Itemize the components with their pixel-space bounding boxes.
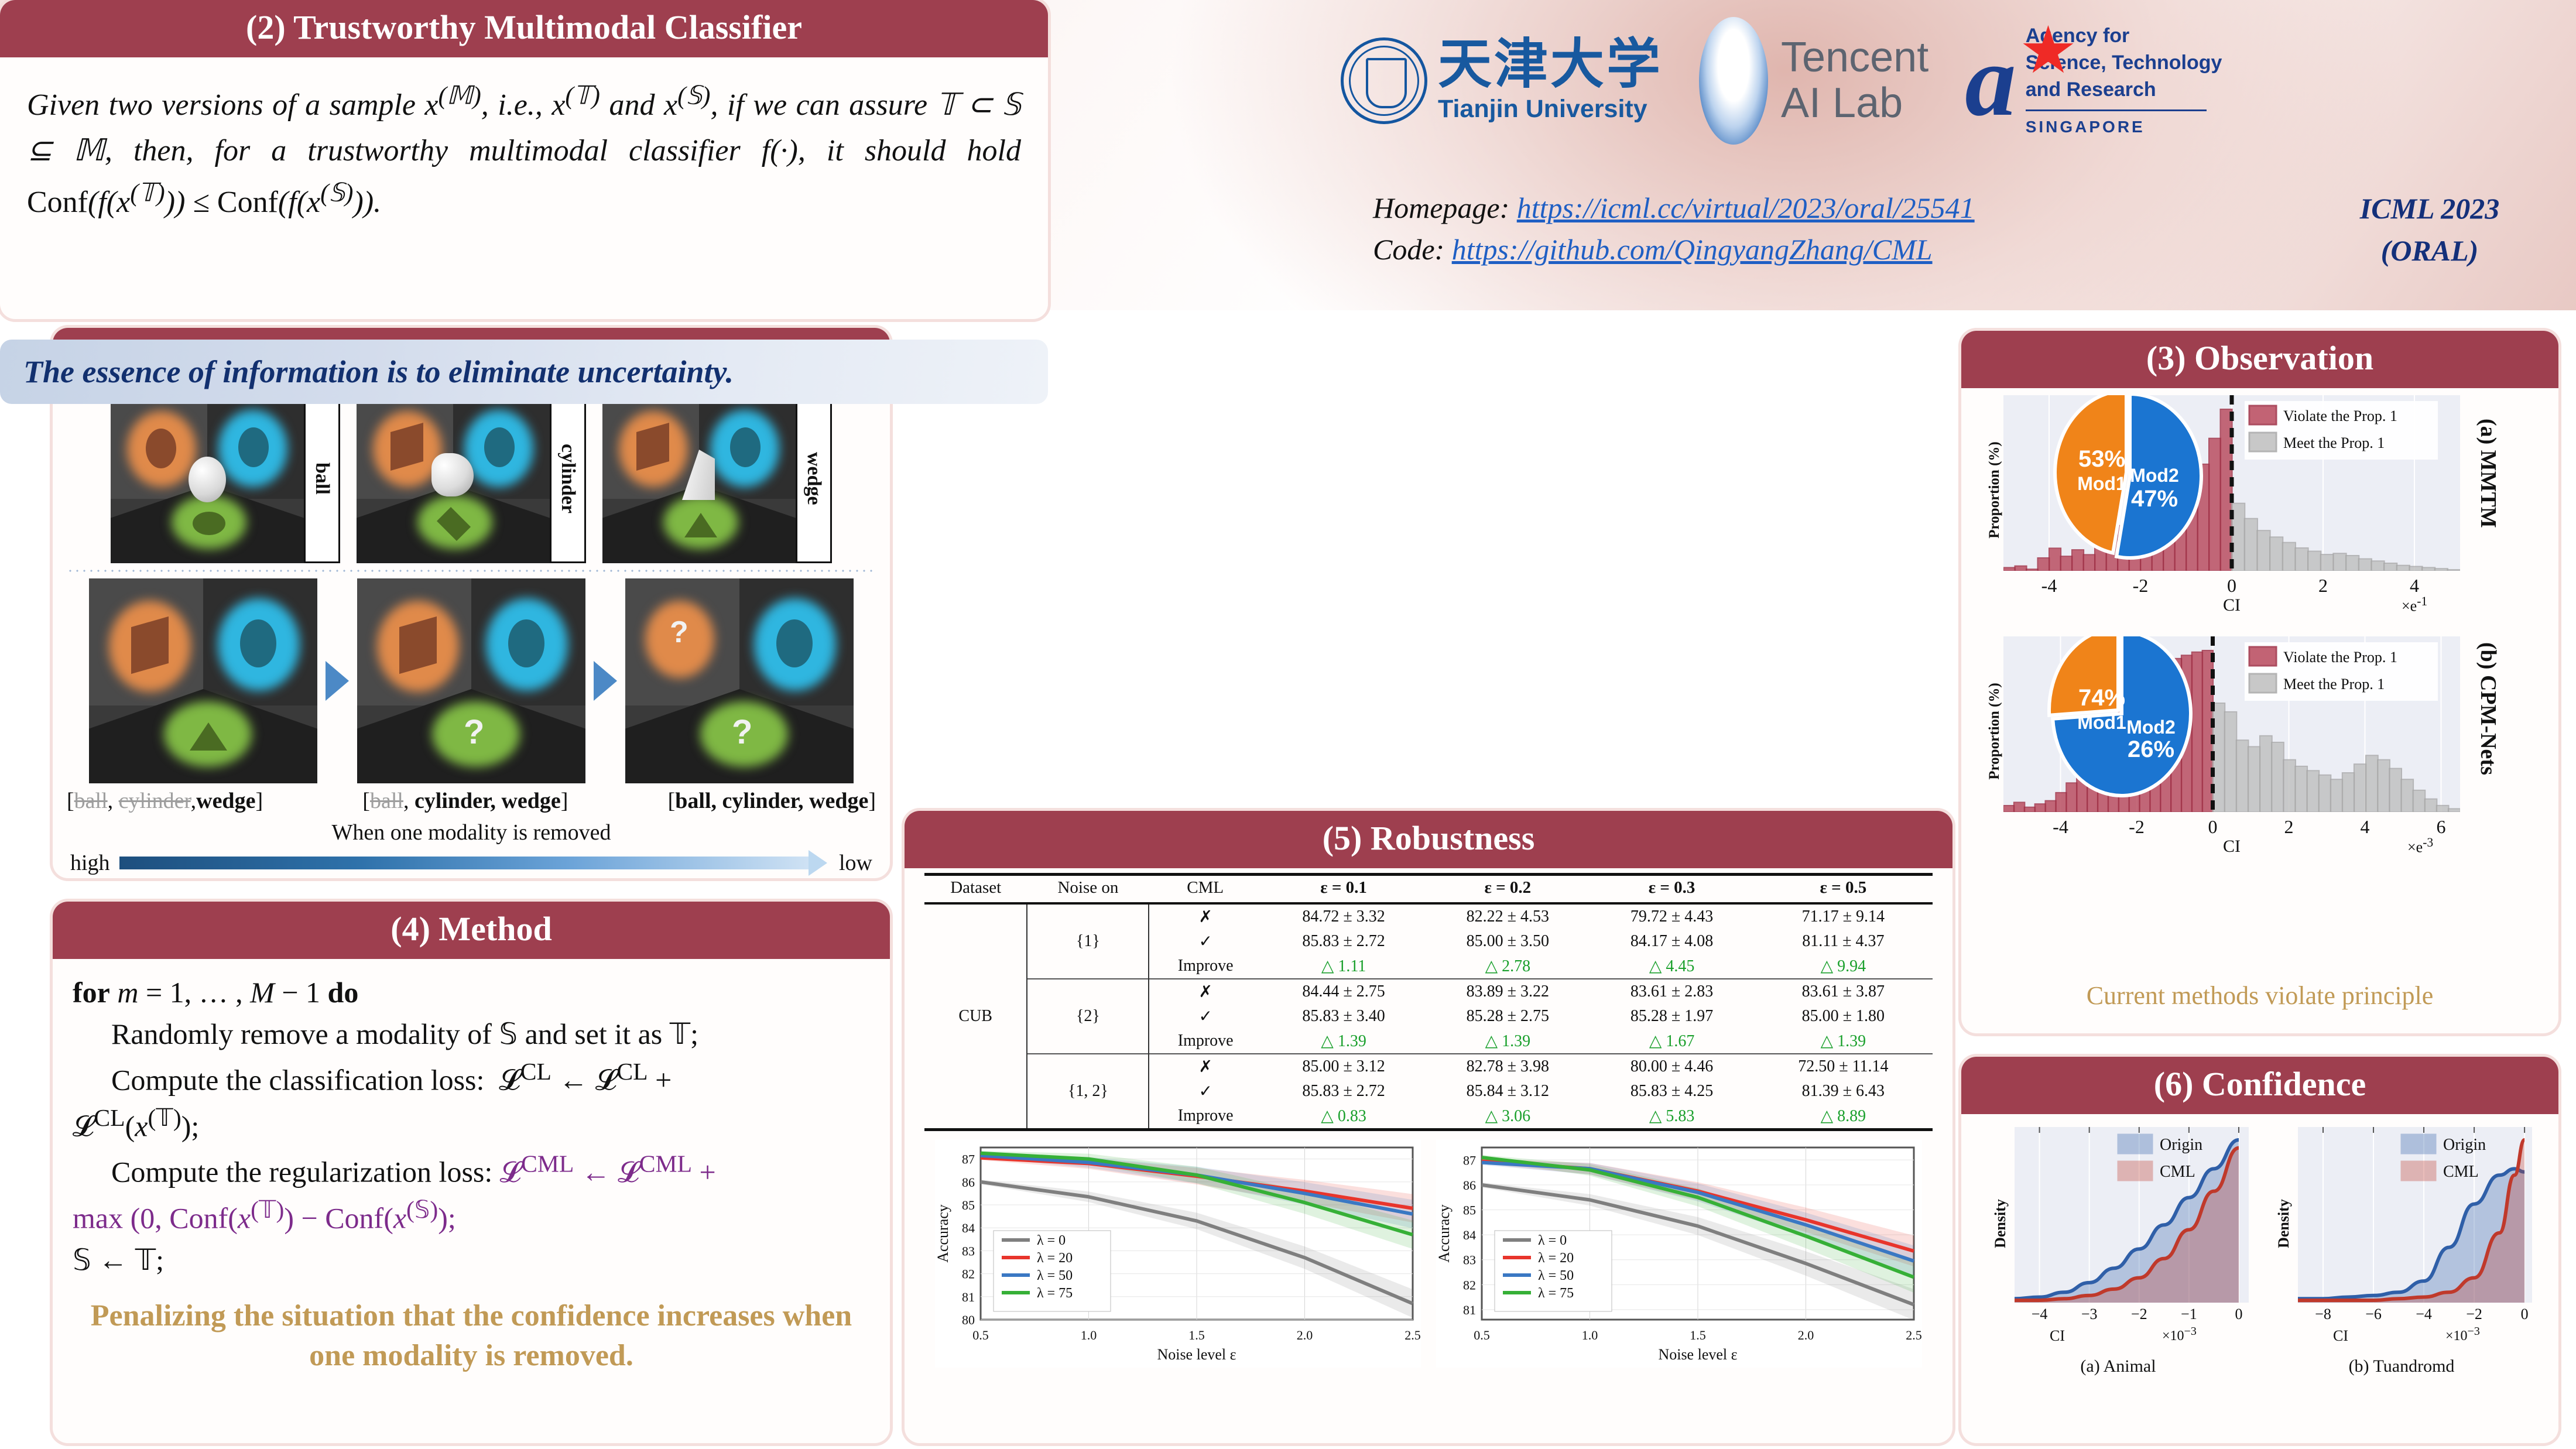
cell-improve: △ 1.67 [1590, 1029, 1753, 1054]
cell-value: 81.11 ± 4.37 [1754, 929, 1933, 954]
hist-b-ylabel: Proportion (%) [1986, 658, 2003, 804]
svg-text:-4: -4 [2053, 816, 2068, 837]
essence-quote-banner: The essence of information is to elimina… [0, 340, 1048, 404]
cell-value: 85.83 ± 3.40 [1262, 1004, 1426, 1029]
svg-text:λ = 75: λ = 75 [1538, 1286, 1574, 1301]
when-removed-label: When one modality is removed [63, 820, 879, 845]
svg-text:85: 85 [1463, 1203, 1476, 1218]
cell-value: 79.72 ± 4.43 [1590, 903, 1753, 929]
svg-text:Mod2: Mod2 [2126, 717, 2176, 738]
svg-text:1.5: 1.5 [1188, 1328, 1205, 1342]
confidence-high-label: high [70, 850, 110, 876]
cell-value: 83.61 ± 3.87 [1754, 979, 1933, 1004]
scene-card-cylinder: cylinder [357, 393, 586, 563]
svg-text:-4: -4 [2041, 575, 2057, 596]
cell-value: 83.61 ± 2.83 [1590, 979, 1753, 1004]
svg-text:λ = 20: λ = 20 [1037, 1251, 1073, 1266]
svg-text:CML: CML [2160, 1163, 2195, 1181]
panel-motivation-body: ball cylinder [53, 385, 890, 878]
method-takeaway: Penalizing the situation that the confid… [73, 1296, 870, 1376]
hist-a-xlabel: CI [2003, 595, 2460, 615]
chart-hist-cpmnets-wrap: Proportion (%) 74%Mod1Mod226%Violate the… [1967, 636, 2553, 847]
svg-text:86: 86 [1463, 1178, 1476, 1193]
svg-text:0.5: 0.5 [972, 1328, 989, 1342]
scene-row-bottom: ? ? ? [63, 578, 879, 783]
panel-method: (4) Method for m = 1, … , M − 1 do Rando… [53, 902, 890, 1443]
confidence-low-label: low [839, 850, 872, 876]
tencent-line-2: AI Lab [1781, 81, 1928, 126]
panel-robustness-title: (5) Robustness [905, 811, 1952, 868]
cell-cml: Improve [1149, 1029, 1262, 1054]
svg-text:−3: −3 [2081, 1306, 2098, 1323]
chart-robustness-right: 0.51.01.52.02.581828384858687Noise level… [1436, 1139, 1922, 1368]
density-b-xlabel: CI [2333, 1327, 2348, 1345]
code-label: Code: [1373, 233, 1444, 266]
svg-text:0.5: 0.5 [1474, 1328, 1490, 1342]
cell-cml: ✓ [1149, 929, 1262, 954]
tencent-mark-icon [1699, 17, 1768, 145]
arrow-right-icon [326, 661, 349, 701]
cell-improve: △ 8.89 [1754, 1104, 1933, 1130]
svg-text:Noise level ε: Noise level ε [1658, 1346, 1737, 1363]
density-a-xlabel: CI [2050, 1327, 2065, 1345]
algo-for-line: for m = 1, … , M − 1 do [73, 972, 870, 1013]
cell-value: 85.83 ± 4.25 [1590, 1079, 1753, 1104]
svg-text:Accuracy: Accuracy [935, 1204, 951, 1263]
chart-hist-mmtm-wrap: Proportion (%) 53%Mod1Mod247%Violate the… [1967, 395, 2553, 606]
code-row: Code: https://github.com/QingyangZhang/C… [1373, 229, 1975, 270]
scene-caption-2: [ball, cylinder, wedge] [362, 788, 568, 814]
confidence-charts: Density OriginCML −4−3−2−10 CI ×10−3 (a)… [1971, 1127, 2549, 1379]
chart-robustness-left: 0.51.01.52.02.58081828384858687Noise lev… [935, 1139, 1421, 1368]
scene-remove-two: ? ? [625, 578, 854, 783]
svg-text:Meet the Prop. 1: Meet the Prop. 1 [2283, 676, 2385, 693]
scene-tag-wedge: wedge [796, 393, 832, 563]
svg-text:6: 6 [2437, 816, 2446, 837]
density-tuandromd: OriginCML [2298, 1127, 2532, 1303]
density-a-caption: (a) Animal [1986, 1356, 2250, 1376]
svg-text:2.0: 2.0 [1297, 1328, 1313, 1342]
algo-step-2: Compute the classification loss: 𝓛CL ← 𝓛… [73, 1055, 870, 1101]
cell-improve: △ 1.39 [1426, 1029, 1590, 1054]
tju-seal-icon [1341, 37, 1427, 124]
panel-motivation: (1) Motivation ball [53, 328, 890, 878]
col-eps-05: ε = 0.5 [1754, 875, 1933, 904]
panel-trustworthy-title: (2) Trustworthy Multimodal Classifier [0, 0, 1048, 57]
hist-b-xlabel: CI [2003, 837, 2460, 857]
svg-text:−2: −2 [2131, 1306, 2147, 1323]
logo-strip: 天津大学 Tianjin University Tencent AI Lab a… [1341, 15, 2222, 146]
cell-value: 85.83 ± 2.72 [1262, 1079, 1426, 1104]
svg-text:74%: 74% [2078, 685, 2125, 711]
svg-text:83: 83 [962, 1244, 975, 1258]
svg-text:81: 81 [1463, 1303, 1476, 1317]
homepage-row: Homepage: https://icml.cc/virtual/2023/o… [1373, 187, 1975, 229]
question-mark-icon: ? [732, 712, 752, 752]
algo-step-1: Randomly remove a modality of 𝕊 and set … [73, 1013, 870, 1055]
code-link[interactable]: https://github.com/QingyangZhang/CML [1452, 233, 1933, 266]
svg-text:Mod1: Mod1 [2077, 473, 2126, 494]
star-icon: ★ [2019, 18, 2077, 84]
hist-mmtm: 53%Mod1Mod247%Violate the Prop. 1Meet th… [2003, 395, 2460, 571]
scene-captions: [ball, cylinder,wedge] [ball, cylinder, … [63, 783, 879, 814]
cell-improve: △ 1.11 [1262, 954, 1426, 979]
cell-improve: △ 0.83 [1262, 1104, 1426, 1130]
homepage-link[interactable]: https://icml.cc/virtual/2023/oral/25541 [1517, 191, 1975, 224]
svg-text:4: 4 [2361, 816, 2370, 837]
cell-improve: △ 2.78 [1426, 954, 1590, 979]
svg-text:λ = 0: λ = 0 [1037, 1233, 1066, 1248]
tencent-ai-lab-logo: Tencent AI Lab [1699, 17, 1928, 145]
svg-text:82: 82 [1463, 1277, 1476, 1292]
svg-text:Violate the Prop. 1: Violate the Prop. 1 [2283, 407, 2397, 424]
algo-step-3: Compute the regularization loss: 𝓛CML ← … [73, 1147, 870, 1193]
svg-text:81: 81 [962, 1290, 975, 1304]
arrow-right-icon [594, 661, 617, 701]
cell-noise-on: {1} [1027, 903, 1149, 979]
tju-english-name: Tianjin University [1438, 95, 1663, 124]
divider [67, 569, 876, 573]
venue-line-2: (ORAL) [2307, 229, 2553, 272]
svg-text:0: 0 [2235, 1306, 2242, 1323]
svg-text:λ = 75: λ = 75 [1037, 1286, 1073, 1301]
panel-observation-body: Proportion (%) 53%Mod1Mod247%Violate the… [1961, 388, 2558, 854]
observation-note: Current methods violate principle [1961, 981, 2558, 1010]
cell-improve: △ 9.94 [1754, 954, 1933, 979]
cell-value: 83.89 ± 3.22 [1426, 979, 1590, 1004]
col-eps-01: ε = 0.1 [1262, 875, 1426, 904]
cell-value: 84.72 ± 3.32 [1262, 903, 1426, 929]
cell-value: 71.17 ± 9.14 [1754, 903, 1933, 929]
cell-value: 85.83 ± 2.72 [1262, 929, 1426, 954]
cell-improve: △ 4.45 [1590, 954, 1753, 979]
link-block: Homepage: https://icml.cc/virtual/2023/o… [1373, 187, 1975, 270]
svg-text:47%: 47% [2131, 486, 2178, 512]
robustness-table: Dataset Noise on CML ε = 0.1 ε = 0.2 ε =… [924, 873, 1933, 1131]
svg-text:Violate the Prop. 1: Violate the Prop. 1 [2283, 649, 2397, 666]
confidence-scale: high low [63, 850, 879, 876]
cell-noise-on: {2} [1027, 979, 1149, 1054]
cell-value: 85.00 ± 1.80 [1754, 1004, 1933, 1029]
tianjin-university-logo: 天津大学 Tianjin University [1341, 37, 1663, 124]
cell-improve: △ 3.06 [1426, 1104, 1590, 1130]
scene-card-ball: ball [111, 393, 340, 563]
svg-text:0: 0 [2208, 816, 2218, 837]
svg-text:2.0: 2.0 [1798, 1328, 1814, 1342]
svg-text:Mod2: Mod2 [2130, 465, 2179, 486]
svg-text:87: 87 [1463, 1153, 1476, 1167]
cell-value: 85.00 ± 3.12 [1262, 1054, 1426, 1079]
svg-text:−6: −6 [2365, 1306, 2382, 1323]
scene-cylinder [357, 393, 550, 563]
astar-singapore: SINGAPORE [2026, 116, 2222, 138]
cell-cml: ✗ [1149, 979, 1262, 1004]
svg-text:1.5: 1.5 [1690, 1328, 1706, 1342]
cell-value: 81.39 ± 6.43 [1754, 1079, 1933, 1104]
table-row: CUB {1} ✗ 84.72 ± 3.32 82.22 ± 4.53 79.7… [924, 903, 1933, 929]
cell-noise-on: {1, 2} [1027, 1054, 1149, 1130]
chart-density-animal-wrap: Density OriginCML −4−3−2−10 CI ×10−3 (a)… [1986, 1127, 2250, 1379]
scene-caption-1: [ball, cylinder,wedge] [67, 788, 263, 814]
cell-improve: △ 1.39 [1754, 1029, 1933, 1054]
venue-line-1: ICML 2023 [2307, 187, 2553, 229]
svg-text:Mod1: Mod1 [2077, 712, 2126, 733]
svg-text:2: 2 [2318, 575, 2328, 596]
density-b-caption: (b) Tuandromd [2270, 1356, 2533, 1376]
panel-trustworthy-classifier: (2) Trustworthy Multimodal Classifier Gi… [0, 0, 1048, 439]
cell-value: 82.22 ± 4.53 [1426, 903, 1590, 929]
svg-text:λ = 50: λ = 50 [1538, 1268, 1574, 1283]
cell-improve: △ 5.83 [1590, 1104, 1753, 1130]
svg-text:−4: −4 [2416, 1306, 2432, 1323]
panel-method-body: for m = 1, … , M − 1 do Randomly remove … [53, 959, 890, 1376]
svg-text:2.5: 2.5 [1906, 1328, 1922, 1342]
panel-observation: (3) Observation Proportion (%) 53%Mod1Mo… [1961, 331, 2558, 1033]
panel-confidence-title: (6) Confidence [1961, 1057, 2558, 1114]
cell-cml: ✓ [1149, 1004, 1262, 1029]
scene-ball [111, 393, 304, 563]
panel-robustness: (5) Robustness Dataset Noise on CML ε = … [905, 811, 1952, 1443]
svg-text:CML: CML [2443, 1163, 2479, 1181]
svg-text:86: 86 [962, 1175, 975, 1190]
panel-robustness-body: Dataset Noise on CML ε = 0.1 ε = 0.2 ε =… [905, 868, 1952, 1372]
robustness-charts: 0.51.01.52.02.58081828384858687Noise lev… [924, 1139, 1933, 1368]
svg-text:84: 84 [962, 1221, 975, 1235]
cell-value: 82.78 ± 3.98 [1426, 1054, 1590, 1079]
svg-text:83: 83 [1463, 1253, 1476, 1268]
svg-text:-2: -2 [2129, 816, 2145, 837]
cell-value: 80.00 ± 4.46 [1590, 1054, 1753, 1079]
svg-text:0: 0 [2227, 575, 2236, 596]
cell-dataset: CUB [924, 903, 1027, 1130]
density-b-ylabel: Density [2275, 1165, 2293, 1282]
svg-text:-2: -2 [2133, 575, 2149, 596]
cell-value: 85.28 ± 2.75 [1426, 1004, 1590, 1029]
density-animal: OriginCML [2015, 1127, 2249, 1303]
homepage-label: Homepage: [1373, 191, 1509, 224]
cell-value: 85.00 ± 3.50 [1426, 929, 1590, 954]
svg-text:82: 82 [962, 1267, 975, 1282]
svg-text:4: 4 [2410, 575, 2419, 596]
algo-step-4: 𝕊 ← 𝕋; [73, 1239, 870, 1281]
svg-text:26%: 26% [2128, 737, 2174, 762]
question-mark-icon: ? [670, 615, 688, 650]
panel-confidence: (6) Confidence Density OriginCML −4−3−2−… [1961, 1057, 2558, 1443]
scene-tag-cylinder: cylinder [550, 393, 586, 563]
svg-text:−8: −8 [2315, 1306, 2331, 1323]
svg-text:Origin: Origin [2443, 1136, 2486, 1154]
density-a-ylabel: Density [1992, 1165, 2009, 1282]
table-row: {1, 2} ✗ 85.00 ± 3.12 82.78 ± 3.98 80.00… [924, 1054, 1933, 1079]
svg-text:84: 84 [1463, 1228, 1476, 1242]
panel-method-title: (4) Method [53, 902, 890, 959]
density-b-scale-note: ×10−3 [2445, 1325, 2480, 1344]
svg-text:53%: 53% [2078, 446, 2125, 472]
algo-step-3-cont: max (0, Conf(x(𝕋)) − Conf(x(𝕊)); [73, 1193, 870, 1239]
col-eps-02: ε = 0.2 [1426, 875, 1590, 904]
scene-tag-ball: ball [304, 393, 340, 563]
essence-quote-text: The essence of information is to elimina… [23, 354, 734, 390]
svg-text:0: 0 [2521, 1306, 2529, 1323]
svg-text:80: 80 [962, 1313, 975, 1327]
svg-text:λ = 20: λ = 20 [1538, 1251, 1574, 1266]
scene-wedge [602, 393, 796, 563]
cell-improve: △ 1.39 [1262, 1029, 1426, 1054]
cell-value: 72.50 ± 11.14 [1754, 1054, 1933, 1079]
svg-text:2.5: 2.5 [1405, 1328, 1421, 1342]
astar-logo: a ★ Agency for Science, Technology and R… [1965, 23, 2222, 138]
hist-b-scale-note: ×e-3 [2407, 835, 2433, 857]
cell-cml: Improve [1149, 954, 1262, 979]
svg-text:87: 87 [962, 1152, 975, 1167]
hist-a-ylabel: Proportion (%) [1986, 417, 2003, 563]
svg-text:Origin: Origin [2160, 1136, 2202, 1154]
question-mark-icon: ? [464, 712, 484, 752]
tju-chinese-name: 天津大学 [1438, 37, 1663, 91]
panel-confidence-body: Density OriginCML −4−3−2−10 CI ×10−3 (a)… [1961, 1114, 2558, 1392]
scene-full [89, 578, 317, 783]
hist-b-subcaption: (b) CPM-Nets [2475, 642, 2501, 775]
scene-remove-one: ? [357, 578, 585, 783]
scene-caption-3: [ball, cylinder, wedge] [668, 788, 876, 814]
svg-text:λ = 0: λ = 0 [1538, 1233, 1567, 1248]
density-a-scale-note: ×10−3 [2162, 1325, 2197, 1344]
svg-text:2: 2 [2284, 816, 2294, 837]
svg-text:Accuracy: Accuracy [1436, 1204, 1453, 1263]
scene-card-wedge: wedge [602, 393, 832, 563]
cell-cml: ✗ [1149, 903, 1262, 929]
hist-a-scale-note: ×e-1 [2402, 594, 2427, 615]
venue-badge: ICML 2023 (ORAL) [2307, 187, 2553, 272]
cell-value: 85.28 ± 1.97 [1590, 1004, 1753, 1029]
col-noise-on: Noise on [1027, 875, 1149, 904]
col-dataset: Dataset [924, 875, 1027, 904]
table-row: {2} ✗ 84.44 ± 2.75 83.89 ± 3.22 83.61 ± … [924, 979, 1933, 1004]
svg-text:−4: −4 [2032, 1306, 2048, 1323]
svg-text:λ = 50: λ = 50 [1037, 1268, 1073, 1283]
algo-step-2-cont: 𝓛CL(x(𝕋)); [73, 1101, 870, 1147]
cell-cml: ✗ [1149, 1054, 1262, 1079]
hist-cpmnets: 74%Mod1Mod226%Violate the Prop. 1Meet th… [2003, 636, 2460, 812]
astar-a-glyph: a [1965, 32, 2016, 129]
svg-text:Noise level ε: Noise level ε [1157, 1346, 1236, 1363]
cell-cml: Improve [1149, 1104, 1262, 1130]
tencent-line-1: Tencent [1781, 35, 1928, 81]
chart-density-tuandromd-wrap: Density OriginCML −8−6−4−20 CI ×10−3 (b)… [2270, 1127, 2533, 1379]
col-eps-03: ε = 0.3 [1590, 875, 1753, 904]
hist-a-subcaption: (a) MMTM [2475, 419, 2501, 528]
svg-text:1.0: 1.0 [1081, 1328, 1097, 1342]
svg-text:−2: −2 [2466, 1306, 2482, 1323]
table-header-row: Dataset Noise on CML ε = 0.1 ε = 0.2 ε =… [924, 875, 1933, 904]
svg-text:−1: −1 [2181, 1306, 2197, 1323]
cell-value: 84.17 ± 4.08 [1590, 929, 1753, 954]
svg-text:1.0: 1.0 [1582, 1328, 1598, 1342]
cell-value: 84.44 ± 2.75 [1262, 979, 1426, 1004]
cell-value: 85.84 ± 3.12 [1426, 1079, 1590, 1104]
divider [2026, 109, 2207, 111]
scene-row-top: ball cylinder [63, 393, 879, 563]
confidence-gradient-bar [119, 857, 810, 869]
col-cml: CML [1149, 875, 1262, 904]
cell-cml: ✓ [1149, 1079, 1262, 1104]
panel-observation-title: (3) Observation [1961, 331, 2558, 388]
panel-trustworthy-body: Given two versions of a sample x(𝕄), i.e… [0, 57, 1048, 245]
svg-text:Meet the Prop. 1: Meet the Prop. 1 [2283, 434, 2385, 451]
svg-text:85: 85 [962, 1198, 975, 1212]
